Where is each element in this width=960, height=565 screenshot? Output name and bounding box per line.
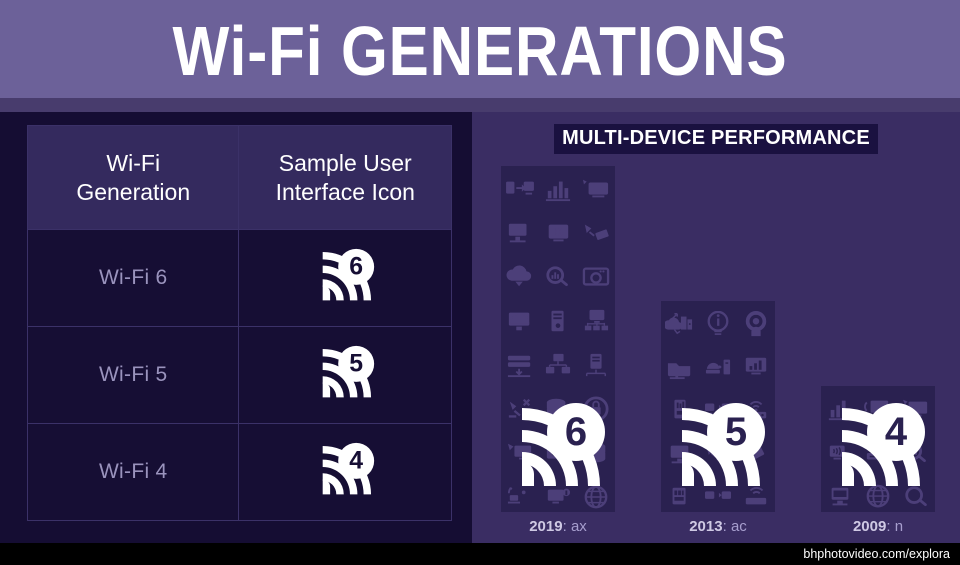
page-title: Wi-Fi GENERATIONS — [67, 4, 893, 98]
bar-label-year: 2019 — [529, 518, 562, 535]
bar-badge-wifi-6: 6 — [505, 400, 611, 500]
column-header-generation: Wi-Fi Generation — [28, 126, 239, 230]
bar-label-separator: : — [563, 518, 571, 535]
chart-panel: MULTI-DEVICE PERFORMANCE — [472, 112, 960, 543]
table-row: Wi-Fi 6 — [28, 230, 452, 327]
chart-title-wrap: MULTI-DEVICE PERFORMANCE — [472, 124, 960, 154]
wifi-generations-table: Wi-Fi Generation Sample User Interface I… — [27, 125, 452, 521]
wifi-badge-number: 6 — [349, 253, 363, 280]
generation-label: Wi-Fi 6 — [99, 266, 168, 289]
bar-label-2019-ax: 2019: ax — [501, 518, 615, 535]
bar-badge-number: 6 — [565, 410, 587, 454]
wifi-4-icon: 4 — [239, 424, 451, 520]
bar-label-year: 2013 — [689, 518, 722, 535]
generation-label: Wi-Fi 5 — [99, 363, 168, 386]
cell-generation-icon: 4 — [239, 424, 452, 521]
bar-badge-wifi-5: 5 — [665, 400, 771, 500]
wifi-badge-number: 4 — [349, 447, 363, 474]
bar-label-year: 2009 — [853, 518, 886, 535]
column-header-icon: Sample User Interface Icon — [239, 126, 452, 230]
bar-2013-ac: 5 — [661, 301, 775, 512]
bar-label-standard: n — [895, 518, 903, 535]
table-header: Wi-Fi Generation Sample User Interface I… — [28, 126, 452, 230]
header-shadow-strip — [0, 98, 960, 112]
column-header-icon-line2: Interface Icon — [276, 179, 415, 205]
bar-badge-number: 5 — [725, 410, 747, 454]
wifi-6-icon: 6 — [239, 230, 451, 326]
bar-label-separator: : — [723, 518, 731, 535]
bar-label-2013-ac: 2013: ac — [661, 518, 775, 535]
table-row: Wi-Fi 4 — [28, 424, 452, 521]
wifi-5-icon: 5 — [239, 327, 451, 423]
chart-title: MULTI-DEVICE PERFORMANCE — [554, 124, 878, 154]
bar-label-standard: ac — [731, 518, 747, 535]
infographic-root: Wi-Fi GENERATIONS Wi-Fi Generation Sampl… — [0, 0, 960, 565]
table-header-row: Wi-Fi Generation Sample User Interface I… — [28, 126, 452, 230]
bar-badge-wifi-4: 4 — [825, 400, 931, 500]
generation-label: Wi-Fi 4 — [99, 460, 168, 483]
bar-2009-n: 4 — [821, 386, 935, 512]
wifi-badge-number: 5 — [349, 350, 363, 377]
footer-attribution: bhphotovideo.com/explora — [803, 543, 950, 565]
cell-generation-icon: 5 — [239, 327, 452, 424]
cell-generation-name: Wi-Fi 6 — [28, 230, 239, 327]
table-body: Wi-Fi 6 — [28, 230, 452, 521]
bar-label-standard: ax — [571, 518, 587, 535]
column-header-generation-line1: Wi-Fi — [106, 150, 160, 176]
bar-label-separator: : — [886, 518, 894, 535]
column-header-icon-line1: Sample User — [279, 150, 412, 176]
table-row: Wi-Fi 5 — [28, 327, 452, 424]
cell-generation-name: Wi-Fi 5 — [28, 327, 239, 424]
bar-2019-ax: 6 — [501, 166, 615, 512]
column-header-generation-line2: Generation — [76, 179, 190, 205]
bar-label-2009-n: 2009: n — [821, 518, 935, 535]
footer-bar: bhphotovideo.com/explora — [0, 543, 960, 565]
cell-generation-name: Wi-Fi 4 — [28, 424, 239, 521]
cell-generation-icon: 6 — [239, 230, 452, 327]
bar-badge-number: 4 — [885, 410, 908, 454]
left-panel: Wi-Fi Generation Sample User Interface I… — [0, 112, 472, 543]
